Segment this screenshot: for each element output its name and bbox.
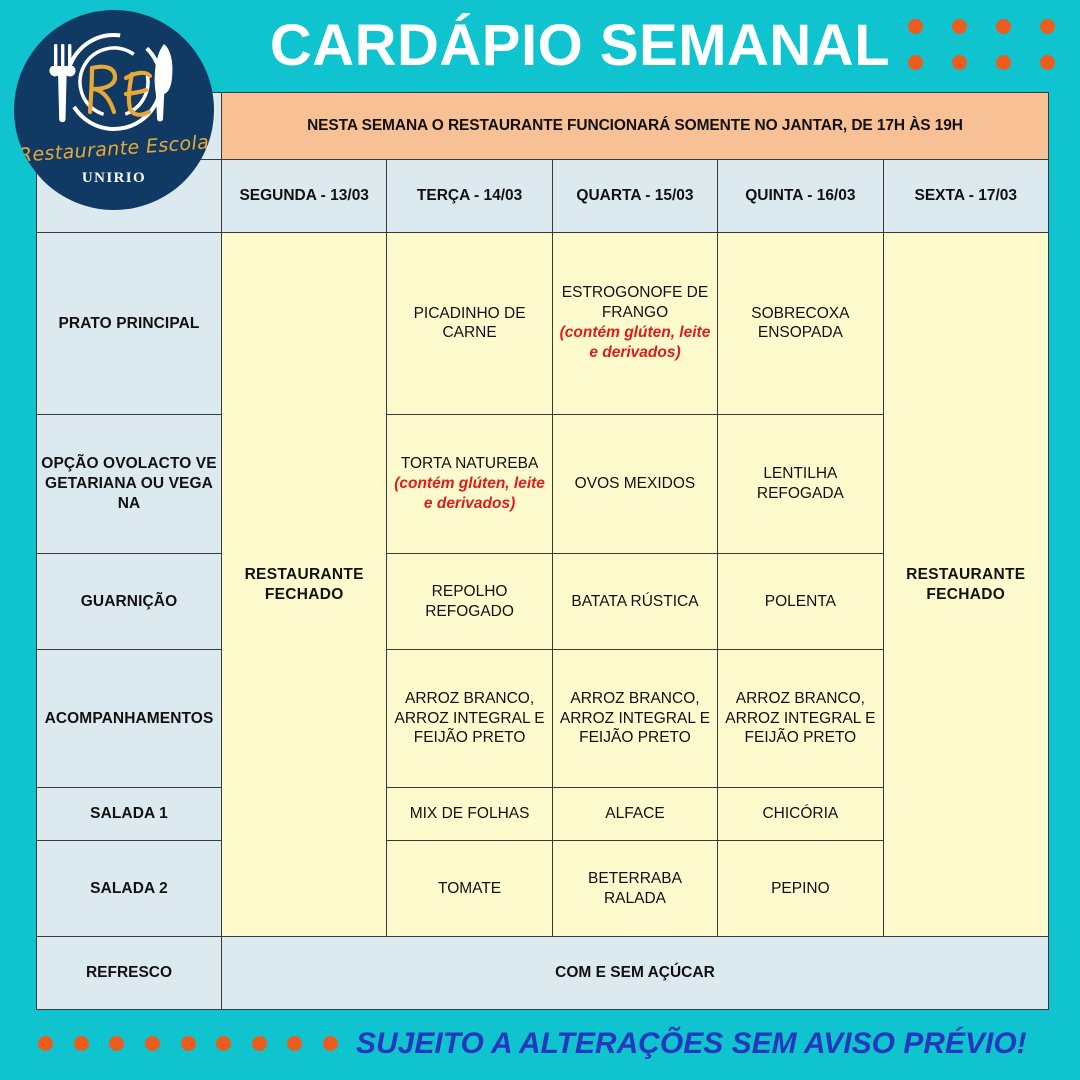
dish-name: REPOLHO REFOGADO: [390, 582, 548, 622]
weekly-menu-table: NESTA SEMANA O RESTAURANTE FUNCIONARÁ SO…: [36, 92, 1049, 1010]
dish-name: ARROZ BRANCO, ARROZ INTEGRAL E FEIJÃO PR…: [721, 689, 879, 748]
row-label-guarnicao: GUARNIÇÃO: [37, 554, 222, 650]
row-label-acompanhamentos: ACOMPANHAMENTOS: [37, 650, 222, 788]
dot-icon: [952, 55, 967, 70]
cell-segunda-closed: RESTAURANTE FECHADO: [222, 233, 387, 937]
cell-terca-prato-principal: PICADINHO DE CARNE: [387, 233, 552, 415]
dish-name: CHICÓRIA: [721, 804, 879, 824]
dish-name: BETERRABA RALADA: [556, 869, 714, 909]
dot-icon: [908, 55, 923, 70]
dish-name: BATATA RÚSTICA: [556, 592, 714, 612]
dish-name: PICADINHO DE CARNE: [390, 304, 548, 344]
row-label-opcao-vegetariana: OPÇÃO OVOLACTO VEGETARIANA OU VEGANA: [37, 414, 222, 553]
dish-name: ARROZ BRANCO, ARROZ INTEGRAL E FEIJÃO PR…: [556, 689, 714, 748]
cell-quarta-salada-1: ALFACE: [552, 788, 717, 841]
dish-name: PEPINO: [721, 879, 879, 899]
cell-quinta-guarnicao: POLENTA: [718, 554, 883, 650]
dish-name: MIX DE FOLHAS: [390, 804, 548, 824]
cell-terca-salada-1: MIX DE FOLHAS: [387, 788, 552, 841]
dot-icon: [181, 1036, 196, 1051]
dot-icon: [952, 19, 967, 34]
dot-icon: [996, 55, 1011, 70]
cell-quinta-opcao-vegetariana: LENTILHA REFOGADA: [718, 414, 883, 553]
dot-icon: [145, 1036, 160, 1051]
dish-name: ALFACE: [556, 804, 714, 824]
footer-disclaimer: SUJEITO A ALTERAÇÕES SEM AVISO PRÉVIO!: [356, 1020, 1056, 1068]
dot-icon: [996, 19, 1011, 34]
dot-icon: [38, 1036, 53, 1051]
weekly-menu-table-container: NESTA SEMANA O RESTAURANTE FUNCIONARÁ SO…: [36, 92, 1048, 1010]
page-footer: SUJEITO A ALTERAÇÕES SEM AVISO PRÉVIO!: [0, 1014, 1080, 1080]
day-header-quarta: QUARTA - 15/03: [552, 160, 717, 233]
cell-refresco-value: COM E SEM AÇÚCAR: [222, 937, 1049, 1010]
dish-name: TOMATE: [390, 879, 548, 899]
day-header-quinta: QUINTA - 16/03: [718, 160, 883, 233]
cell-quinta-salada-1: CHICÓRIA: [718, 788, 883, 841]
cell-quinta-acompanhamentos: ARROZ BRANCO, ARROZ INTEGRAL E FEIJÃO PR…: [718, 650, 883, 788]
day-header-segunda: SEGUNDA - 13/03: [222, 160, 387, 233]
footer-dot-row: [38, 1032, 338, 1054]
cell-sexta-closed: RESTAURANTE FECHADO: [883, 233, 1048, 937]
dot-icon: [323, 1036, 338, 1051]
cell-terca-salada-2: TOMATE: [387, 841, 552, 937]
cell-quinta-prato-principal: SOBRECOXA ENSOPADA: [718, 233, 883, 415]
dot-icon: [1040, 55, 1055, 70]
cell-quarta-opcao-vegetariana: OVOS MEXIDOS: [552, 414, 717, 553]
allergen-note: (contém glúten, leite e derivados): [556, 323, 714, 363]
page-title: CARDÁPIO SEMANAL: [250, 4, 910, 88]
dish-name: POLENTA: [721, 592, 879, 612]
dish-name: ESTROGONOFE DE FRANGO: [556, 283, 714, 323]
dot-icon: [252, 1036, 267, 1051]
cell-terca-opcao-vegetariana: TORTA NATUREBA (contém glúten, leite e d…: [387, 414, 552, 553]
cell-terca-guarnicao: REPOLHO REFOGADO: [387, 554, 552, 650]
dot-icon: [74, 1036, 89, 1051]
dot-icon: [1040, 19, 1055, 34]
decorative-dot-grid: [893, 8, 1069, 80]
cell-terca-acompanhamentos: ARROZ BRANCO, ARROZ INTEGRAL E FEIJÃO PR…: [387, 650, 552, 788]
dot-icon: [109, 1036, 124, 1051]
dot-icon: [287, 1036, 302, 1051]
cell-quinta-salada-2: PEPINO: [718, 841, 883, 937]
notice-banner: NESTA SEMANA O RESTAURANTE FUNCIONARÁ SO…: [222, 93, 1049, 160]
dish-name: ARROZ BRANCO, ARROZ INTEGRAL E FEIJÃO PR…: [390, 689, 548, 748]
logo-institution-text: UNIRIO: [14, 170, 214, 187]
row-label-refresco: REFRESCO: [37, 937, 222, 1010]
dish-name: SOBRECOXA ENSOPADA: [721, 304, 879, 344]
day-header-terca: TERÇA - 14/03: [387, 160, 552, 233]
restaurant-logo: Restaurante Escola UNIRIO: [14, 10, 214, 210]
table-row: PRATO PRINCIPAL RESTAURANTE FECHADO PICA…: [37, 233, 1049, 415]
dish-name: OVOS MEXIDOS: [556, 474, 714, 494]
cell-quarta-guarnicao: BATATA RÚSTICA: [552, 554, 717, 650]
row-label-salada-2: SALADA 2: [37, 841, 222, 937]
drink-row: REFRESCO COM E SEM AÇÚCAR: [37, 937, 1049, 1010]
row-label-prato-principal: PRATO PRINCIPAL: [37, 233, 222, 415]
allergen-note: (contém glúten, leite e derivados): [390, 474, 548, 514]
day-header-sexta: SEXTA - 17/03: [883, 160, 1048, 233]
cell-quarta-acompanhamentos: ARROZ BRANCO, ARROZ INTEGRAL E FEIJÃO PR…: [552, 650, 717, 788]
cell-quarta-salada-2: BETERRABA RALADA: [552, 841, 717, 937]
dot-icon: [908, 19, 923, 34]
dish-name: TORTA NATUREBA: [390, 454, 548, 474]
row-label-salada-1: SALADA 1: [37, 788, 222, 841]
cell-quarta-prato-principal: ESTROGONOFE DE FRANGO (contém glúten, le…: [552, 233, 717, 415]
dish-name: LENTILHA REFOGADA: [721, 464, 879, 504]
dot-icon: [216, 1036, 231, 1051]
